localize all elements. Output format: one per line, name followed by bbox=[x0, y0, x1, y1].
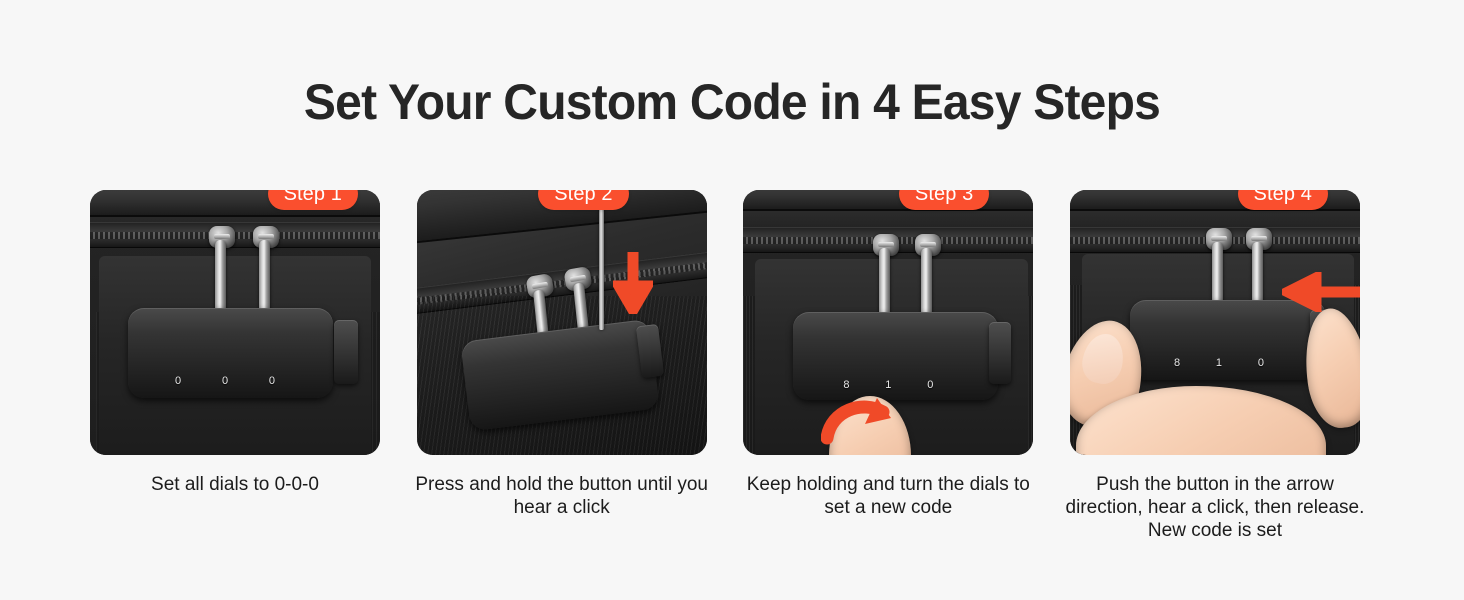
zipper-band bbox=[90, 222, 380, 248]
thumbnail bbox=[1078, 330, 1128, 387]
dial-2[interactable]: 1 bbox=[1216, 358, 1222, 369]
step-caption-1: Set all dials to 0-0-0 bbox=[80, 473, 390, 496]
curved-arrow-icon bbox=[821, 394, 897, 446]
step-card-3: 8 1 0 Step 3 Keep holding and turn the d… bbox=[743, 190, 1033, 542]
step-card-2: Step 2 Press and hold the button until y… bbox=[417, 190, 707, 542]
dial-2[interactable]: 0 bbox=[222, 376, 228, 387]
step-badge-1: Step 1 bbox=[268, 190, 358, 210]
lock-release-slider[interactable] bbox=[989, 322, 1011, 384]
step-3-image: 8 1 0 Step 3 bbox=[743, 190, 1033, 455]
down-arrow-icon bbox=[613, 252, 653, 314]
page-title: Set Your Custom Code in 4 Easy Steps bbox=[29, 70, 1434, 134]
dial-3[interactable]: 0 bbox=[269, 376, 275, 387]
step-2-image: Step 2 bbox=[417, 190, 707, 455]
dial-3[interactable]: 0 bbox=[927, 380, 933, 391]
dial-1[interactable]: 8 bbox=[1174, 358, 1180, 369]
step-badge-4: Step 4 bbox=[1238, 190, 1328, 210]
zipper-teeth bbox=[90, 232, 380, 239]
dial-1[interactable]: 0 bbox=[175, 376, 181, 387]
step-caption-2: Press and hold the button until you hear… bbox=[407, 473, 717, 519]
step-badge-2: Step 2 bbox=[538, 190, 628, 210]
lock-release-slider[interactable] bbox=[334, 320, 358, 384]
steps-row: 0 0 0 Step 1 Set all dials to 0-0-0 bbox=[90, 190, 1360, 542]
reset-pin-tool[interactable] bbox=[599, 190, 604, 330]
step-4-image: 8 1 0 Step 4 bbox=[1070, 190, 1360, 455]
step-caption-3: Keep holding and turn the dials to set a… bbox=[733, 473, 1043, 519]
dial-2[interactable]: 1 bbox=[885, 380, 891, 391]
dial-1[interactable]: 8 bbox=[843, 380, 849, 391]
dial-row[interactable]: 8 1 0 bbox=[1174, 358, 1264, 369]
step-card-1: 0 0 0 Step 1 Set all dials to 0-0-0 bbox=[90, 190, 380, 542]
dial-row[interactable]: 8 1 0 bbox=[843, 380, 933, 391]
dial-row[interactable]: 0 0 0 bbox=[175, 376, 275, 387]
step-caption-4: Push the button in the arrow direction, … bbox=[1060, 473, 1370, 542]
step-card-4: 8 1 0 Step 4 Push the button in the arro… bbox=[1070, 190, 1360, 542]
dial-3[interactable]: 0 bbox=[1258, 358, 1264, 369]
step-badge-3: Step 3 bbox=[899, 190, 989, 210]
step-1-image: 0 0 0 Step 1 bbox=[90, 190, 380, 455]
left-arrow-icon bbox=[1282, 272, 1360, 312]
suitcase-lid bbox=[743, 190, 1033, 211]
